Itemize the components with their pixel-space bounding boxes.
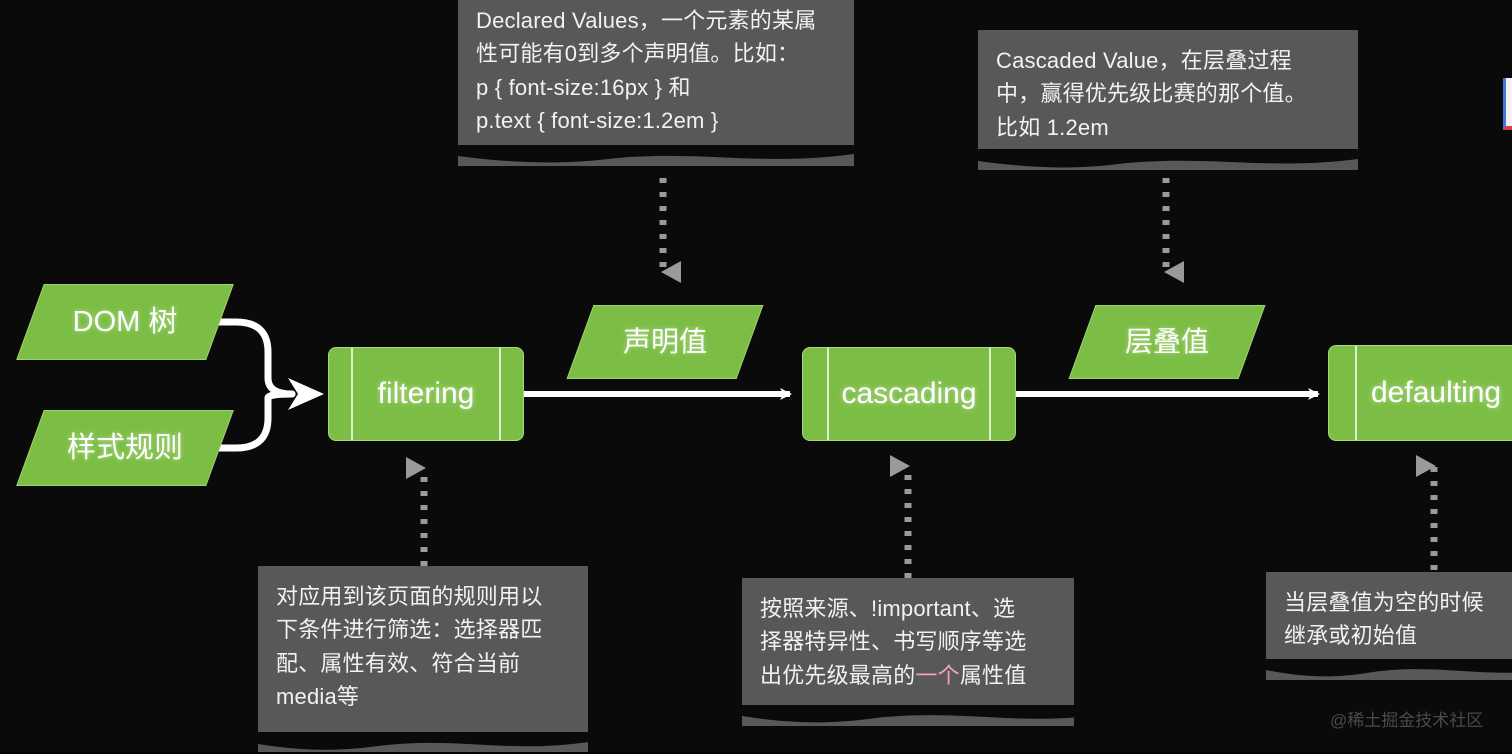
cascading-note-line-2: 择器特异性、书写顺序等选 <box>760 625 1056 658</box>
callout-cascading-note: 按照来源、!important、选 择器特异性、书写顺序等选 出优先级最高的一个… <box>742 578 1074 726</box>
cascaded-value-line-1: Cascaded Value，在层叠过程 <box>996 44 1340 77</box>
callout-wave-edge <box>258 732 588 754</box>
cascading-note-line-3: 出优先级最高的一个属性值 <box>760 659 1056 692</box>
callout-wave-edge <box>978 149 1358 171</box>
cascaded-value-line-2: 中，赢得优先级比赛的那个值。 <box>996 77 1340 110</box>
cascading-note-line-1: 按照来源、!important、选 <box>760 592 1056 625</box>
process-box-defaulting-label: defaulting <box>1329 346 1512 440</box>
cascading-note-line-3-after: 属性值 <box>960 663 1027 688</box>
callout-cascaded-value: Cascaded Value，在层叠过程 中，赢得优先级比赛的那个值。 比如 1… <box>978 30 1358 170</box>
callout-filtering-note: 对应用到该页面的规则用以 下条件进行筛选：选择器匹 配、属性有效、符合当前 me… <box>258 566 588 752</box>
offscreen-panel-artifact <box>1503 78 1512 130</box>
defaulting-note-line-2: 继承或初始值 <box>1284 619 1512 652</box>
callout-wave-edge <box>458 145 854 167</box>
cascaded-value-line-3: 比如 1.2em <box>996 111 1340 144</box>
declared-values-line-1: Declared Values，一个元素的某属 <box>476 4 836 37</box>
callout-wave-edge <box>742 705 1107 727</box>
cascading-note-highlight: 一个 <box>915 663 959 688</box>
shape-dom-tree[interactable]: DOM 树 <box>16 284 234 360</box>
shape-declared-value[interactable]: 声明值 <box>567 305 764 379</box>
filtering-note-line-1: 对应用到该页面的规则用以 <box>276 580 570 613</box>
callout-defaulting-note: 当层叠值为空的时候 继承或初始值 <box>1266 572 1512 680</box>
cascading-note-line-3-before: 出优先级最高的 <box>760 663 915 688</box>
filtering-note-line-4: media等 <box>276 680 570 713</box>
shape-declared-value-label: 声明值 <box>581 306 749 378</box>
defaulting-note-line-1: 当层叠值为空的时候 <box>1284 586 1512 619</box>
shape-style-rules-label: 样式规则 <box>31 411 219 485</box>
shape-style-rules[interactable]: 样式规则 <box>16 410 234 486</box>
shape-dom-tree-label: DOM 树 <box>31 285 219 359</box>
callout-wave-edge <box>1266 659 1512 681</box>
shape-cascaded-value-label: 层叠值 <box>1083 306 1251 378</box>
watermark: @稀土掘金技术社区 <box>1330 706 1483 731</box>
process-box-filtering-label: filtering <box>329 348 523 440</box>
process-box-cascading-label: cascading <box>803 348 1015 440</box>
process-box-cascading[interactable]: cascading <box>802 347 1016 441</box>
declared-values-line-2: 性可能有0到多个声明值。比如： <box>476 37 836 70</box>
process-box-filtering[interactable]: filtering <box>328 347 524 441</box>
filtering-note-line-3: 配、属性有效、符合当前 <box>276 647 570 680</box>
process-box-defaulting[interactable]: defaulting <box>1328 345 1512 441</box>
filtering-note-line-2: 下条件进行筛选：选择器匹 <box>276 613 570 646</box>
merge-arrow-head <box>288 378 324 410</box>
diagram-canvas: DOM 树 样式规则 声明值 层叠值 filtering cascading d… <box>0 0 1512 752</box>
shape-cascaded-value[interactable]: 层叠值 <box>1069 305 1266 379</box>
callout-declared-values: Declared Values，一个元素的某属 性可能有0到多个声明值。比如： … <box>458 0 854 166</box>
declared-values-line-4: p.text { font-size:1.2em } <box>476 104 836 137</box>
declared-values-line-3: p { font-size:16px } 和 <box>476 71 836 104</box>
